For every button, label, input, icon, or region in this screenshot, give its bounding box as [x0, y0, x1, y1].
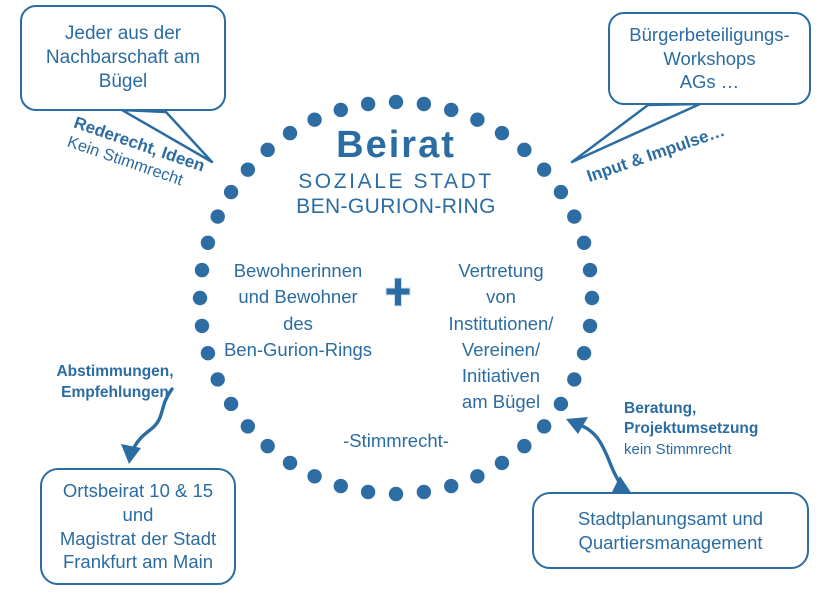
ring-dot	[224, 185, 238, 199]
ring-dot	[307, 113, 321, 127]
ring-dot	[389, 487, 403, 501]
arrow-beratung	[577, 424, 622, 486]
ring-dot	[334, 479, 348, 493]
ring-dot	[260, 439, 274, 453]
ring-dot	[224, 397, 238, 411]
center-subtitle-program: SOZIALE STADT	[246, 170, 546, 194]
ring-dot	[389, 95, 403, 109]
ring-dot	[444, 479, 458, 493]
ring-dot	[211, 372, 225, 386]
ring-dot	[444, 103, 458, 117]
label-input-impulse: Input & Impulse…	[584, 120, 728, 187]
label-beratung-line1: Beratung,	[624, 399, 790, 419]
center-subtitle-location: BEN-GURION-RING	[246, 195, 546, 219]
bubble-participation[interactable]: Bürgerbeteiligungs- Workshops AGs …	[608, 12, 811, 105]
center-column-residents: Bewohnerinnen und Bewohner des Ben-Gurio…	[213, 258, 383, 363]
plus-icon	[384, 276, 412, 310]
ring-dot	[554, 185, 568, 199]
voting-right-note: -Stimmrecht-	[306, 430, 486, 452]
ring-dot	[417, 485, 431, 499]
ring-dot	[211, 209, 225, 223]
bubble-neighbourhood[interactable]: Jeder aus der Nachbarschaft am Bügel	[20, 5, 226, 111]
ring-dot	[517, 439, 531, 453]
ring-dot	[195, 263, 209, 277]
ring-dot	[417, 97, 431, 111]
ring-dot	[470, 113, 484, 127]
ring-dot	[283, 456, 297, 470]
arrowhead-beratung-up	[566, 417, 588, 434]
box-stadtplanung-label: Stadtplanungsamt und Quartiersmanagement	[570, 507, 771, 554]
center-title-block: Beirat SOZIALE STADT BEN-GURION-RING	[246, 126, 546, 219]
diagram-canvas: Beirat SOZIALE STADT BEN-GURION-RING Bew…	[0, 0, 820, 600]
ring-dot	[193, 291, 207, 305]
ring-dot	[583, 263, 597, 277]
label-beratung-line2: Projektumsetzung	[624, 419, 790, 439]
label-rederecht-ideen: Rederecht, Ideen Kein Stimmrecht	[64, 112, 207, 196]
ring-dot	[583, 319, 597, 333]
ring-dot	[361, 485, 375, 499]
ring-dot	[201, 236, 215, 250]
ring-dot	[567, 209, 581, 223]
ring-dot	[195, 319, 209, 333]
ring-dot	[470, 469, 484, 483]
ring-dot	[361, 97, 375, 111]
page-title: Beirat	[246, 126, 546, 166]
center-column-institutions: Vertretung von Institutionen/ Vereinen/ …	[420, 258, 582, 416]
ring-dot	[495, 456, 509, 470]
label-beratung-projektumsetzung: Beratung, Projektumsetzung kein Stimmrec…	[624, 399, 790, 460]
ring-dot	[334, 103, 348, 117]
ring-dot	[577, 236, 591, 250]
box-ortsbeirat-label: Ortsbeirat 10 & 15 und Magistrat der Sta…	[52, 479, 224, 574]
ring-dot	[307, 469, 321, 483]
box-ortsbeirat-magistrat[interactable]: Ortsbeirat 10 & 15 und Magistrat der Sta…	[40, 468, 236, 585]
ring-dot	[241, 419, 255, 433]
bubble-participation-label: Bürgerbeteiligungs- Workshops AGs …	[621, 23, 797, 94]
ring-dot	[585, 291, 599, 305]
bubble-neighbourhood-label: Jeder aus der Nachbarschaft am Bügel	[38, 22, 208, 95]
ring-dot	[537, 419, 551, 433]
box-stadtplanungsamt[interactable]: Stadtplanungsamt und Quartiersmanagement	[532, 492, 809, 569]
label-beratung-line3: kein Stimmrecht	[624, 440, 790, 460]
label-abstimmungen-empfehlungen: Abstimmungen, Empfehlungen	[40, 362, 190, 404]
arrowhead-abstimmungen	[121, 444, 141, 464]
